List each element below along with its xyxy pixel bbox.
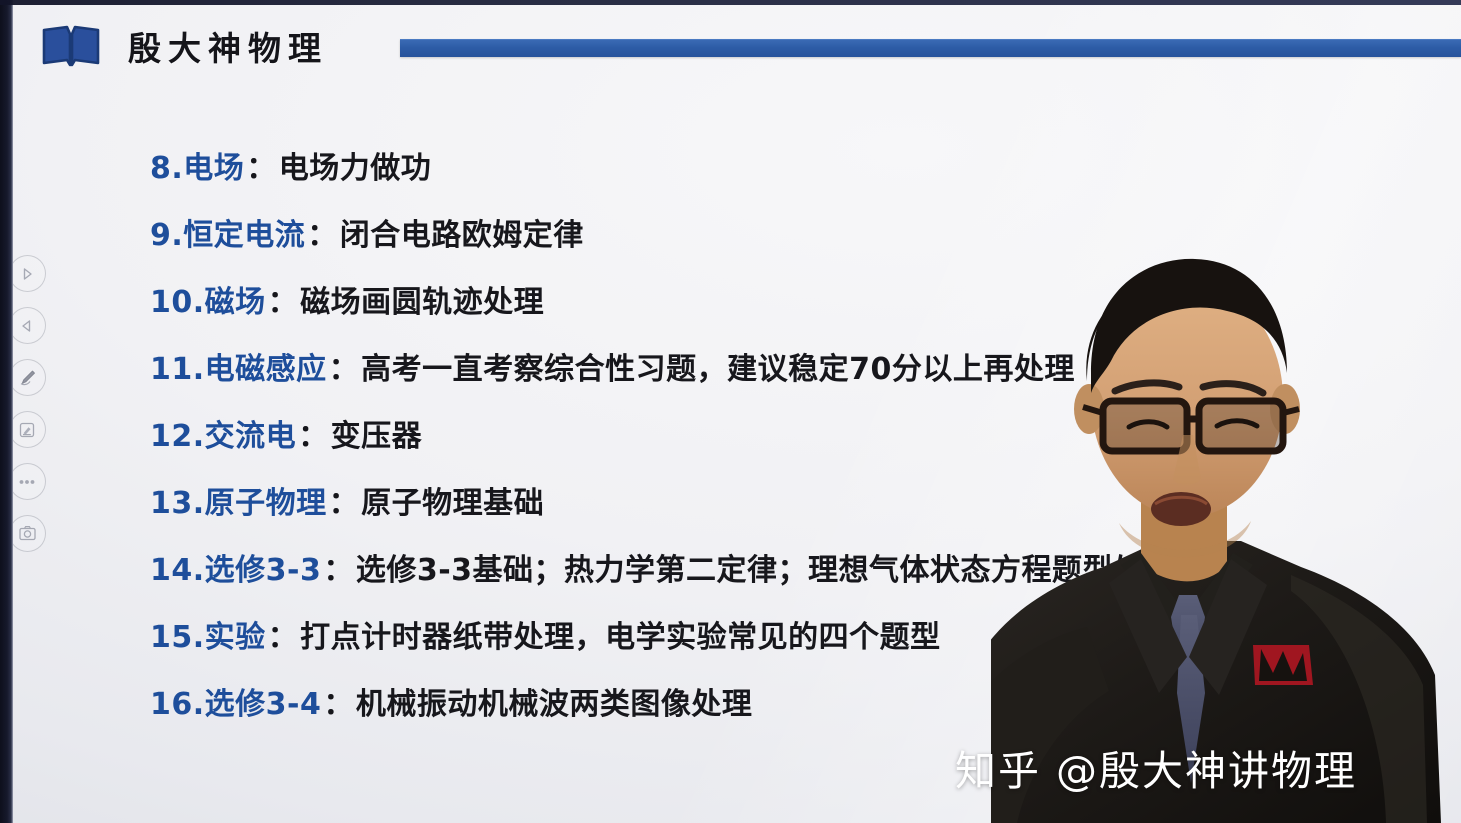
- screenshot-icon[interactable]: [9, 515, 46, 552]
- list-item-topic: 恒定电流: [183, 218, 305, 253]
- screen-bezel-left: [0, 0, 13, 823]
- slide-content-list: 8.电场：电场力做功 9.恒定电流：闭合电路欧姆定律 10.磁场：磁场画圆轨迹处…: [150, 135, 1350, 738]
- list-item-separator: ：: [321, 553, 356, 588]
- list-item-number: 14.: [150, 553, 205, 588]
- list-item-topic: 原子物理: [205, 486, 327, 521]
- list-item-desc: 打点计时器纸带处理，电学实验常见的四个题型: [300, 620, 941, 655]
- list-item-topic: 选修3-4: [205, 687, 322, 722]
- list-item-separator: ：: [244, 151, 279, 186]
- list-item-number: 12.: [150, 419, 205, 454]
- list-item-separator: ：: [321, 687, 356, 722]
- screen-bezel-top: [0, 0, 1461, 5]
- pen-icon[interactable]: [9, 359, 46, 396]
- lecture-screen: 殷大神物理: [0, 0, 1461, 823]
- eraser-icon[interactable]: [9, 411, 46, 448]
- list-item-separator: ：: [327, 486, 362, 521]
- list-item: 15.实验：打点计时器纸带处理，电学实验常见的四个题型: [150, 604, 1350, 671]
- annotation-toolbar[interactable]: [7, 255, 47, 552]
- list-item-desc: 机械振动机械波两类图像处理: [356, 687, 753, 722]
- list-item-desc: 磁场画圆轨迹处理: [300, 285, 544, 320]
- list-item-separator: ：: [296, 419, 331, 454]
- list-item: 13.原子物理：原子物理基础: [150, 470, 1350, 537]
- list-item: 16.选修3-4：机械振动机械波两类图像处理: [150, 671, 1350, 738]
- list-item-desc: 原子物理基础: [361, 486, 544, 521]
- list-item-desc: 高考一直考察综合性习题，建议稳定70分以上再处理: [361, 352, 1075, 387]
- list-item-number: 16.: [150, 687, 205, 722]
- page-title: 殷大神物理: [128, 22, 328, 70]
- list-item-number: 11.: [150, 352, 205, 387]
- play-next-icon[interactable]: [9, 255, 46, 292]
- list-item-desc: 变压器: [331, 419, 423, 454]
- list-item-desc: 选修3-3基础；热力学第二定律；理想气体状态方程题型处理: [356, 553, 1174, 588]
- list-item-topic: 电场: [183, 151, 244, 186]
- list-item-separator: ：: [266, 285, 301, 320]
- play-prev-icon[interactable]: [9, 307, 46, 344]
- list-item-topic: 磁场: [205, 285, 266, 320]
- list-item-desc: 闭合电路欧姆定律: [340, 218, 584, 253]
- list-item-number: 9.: [150, 218, 183, 253]
- list-item-desc: 电场力做功: [279, 151, 432, 186]
- slide-header: 殷大神物理: [0, 0, 1461, 92]
- list-item: 9.恒定电流：闭合电路欧姆定律: [150, 202, 1350, 269]
- list-item: 10.磁场：磁场画圆轨迹处理: [150, 269, 1350, 336]
- more-dots-icon[interactable]: [9, 463, 46, 500]
- list-item-number: 13.: [150, 486, 205, 521]
- list-item-separator: ：: [266, 620, 301, 655]
- list-item: 8.电场：电场力做功: [150, 135, 1350, 202]
- watermark-text: 知乎 @殷大神讲物理: [955, 737, 1357, 797]
- list-item: 12.交流电：变压器: [150, 403, 1350, 470]
- header-rule: [400, 39, 1461, 57]
- list-item: 11.电磁感应：高考一直考察综合性习题，建议稳定70分以上再处理: [150, 336, 1350, 403]
- list-item-separator: ：: [327, 352, 362, 387]
- list-item-number: 15.: [150, 620, 205, 655]
- open-book-icon: [40, 24, 102, 70]
- list-item-topic: 实验: [205, 620, 266, 655]
- list-item-number: 8.: [150, 151, 183, 186]
- list-item: 14.选修3-3：选修3-3基础；热力学第二定律；理想气体状态方程题型处理: [150, 537, 1350, 604]
- list-item-topic: 选修3-3: [205, 553, 322, 588]
- list-item-topic: 交流电: [205, 419, 297, 454]
- list-item-topic: 电磁感应: [205, 352, 327, 387]
- list-item-number: 10.: [150, 285, 205, 320]
- list-item-separator: ：: [305, 218, 340, 253]
